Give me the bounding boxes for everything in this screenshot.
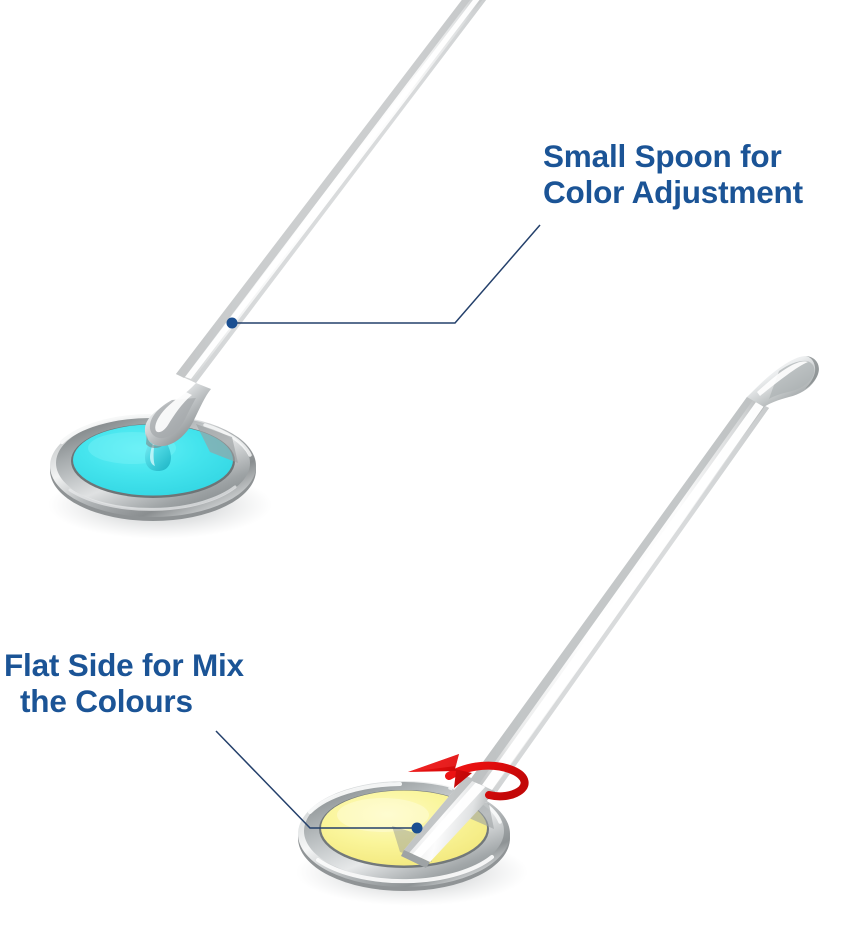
callout-small-spoon: Small Spoon for Color Adjustment — [543, 139, 803, 210]
leader-dot-flat-side — [412, 823, 423, 834]
flat-spatula-tool — [392, 356, 819, 868]
leader-dot-small-spoon — [227, 318, 238, 329]
callout-flat-side-line2: the Colours — [4, 684, 244, 720]
callout-small-spoon-line2: Color Adjustment — [543, 175, 803, 211]
small-spoon-tool — [145, 0, 489, 448]
callout-small-spoon-line1: Small Spoon for — [543, 139, 803, 175]
infographic-canvas: Small Spoon for Color Adjustment Flat Si… — [0, 0, 852, 943]
callout-flat-side-line1: Flat Side for Mix — [4, 648, 244, 684]
callout-flat-side: Flat Side for Mix the Colours — [4, 648, 244, 719]
